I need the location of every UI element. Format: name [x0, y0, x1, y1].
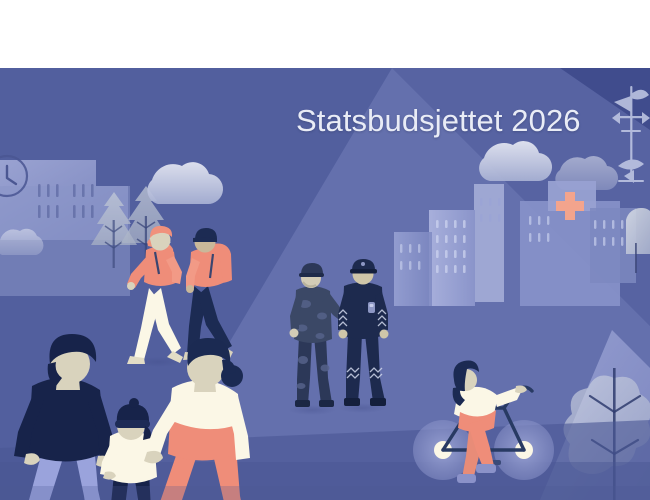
page-title: Statsbudsjettet 2026: [296, 103, 581, 139]
top-white-band: [0, 0, 650, 68]
screenshot-root: Statsbudsjettet 2026: [0, 0, 650, 500]
